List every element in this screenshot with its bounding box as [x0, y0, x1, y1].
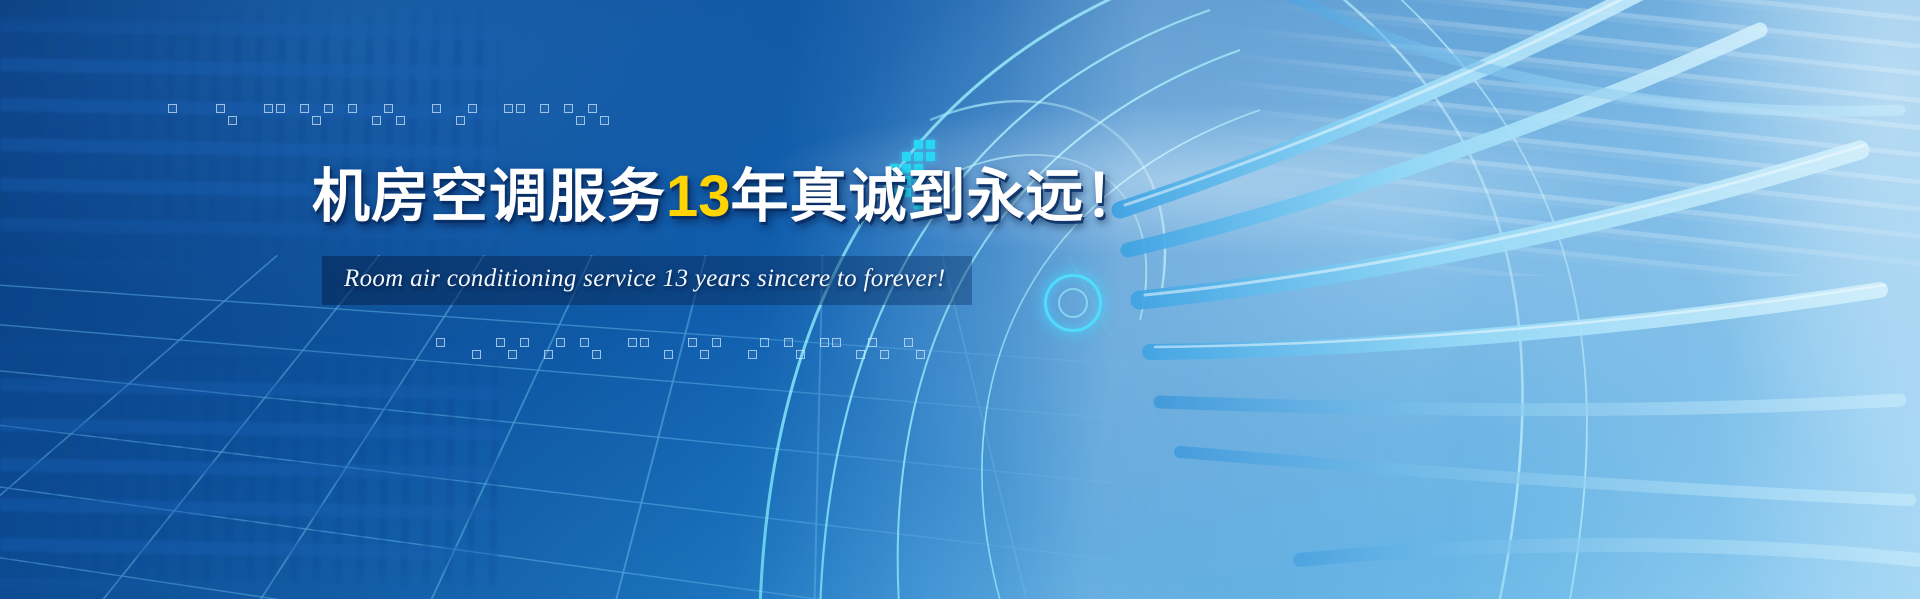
headline-suffix: 年真诚到永远！ [731, 164, 1144, 229]
decor-pixel-row-top [168, 104, 612, 125]
hero-banner: 机房空调服务13年真诚到永远！ Room air conditioning se… [0, 0, 1920, 599]
decor-pixel-row-bottom [436, 338, 928, 359]
cable-glow-ring-icon [1044, 274, 1102, 332]
server-rack-photo-layer [960, 0, 1920, 599]
headline-highlight-number: 13 [666, 164, 731, 229]
subtitle-bar: Room air conditioning service 13 years s… [322, 256, 972, 305]
right-side-haze-overlay [998, 0, 1920, 599]
page-title: 机房空调服务13年真诚到永远！ [312, 168, 1144, 226]
headline-prefix: 机房空调服务 [312, 164, 666, 229]
rack-shelf-striping [1114, 0, 1920, 276]
subtitle-text: Room air conditioning service 13 years s… [344, 265, 946, 294]
